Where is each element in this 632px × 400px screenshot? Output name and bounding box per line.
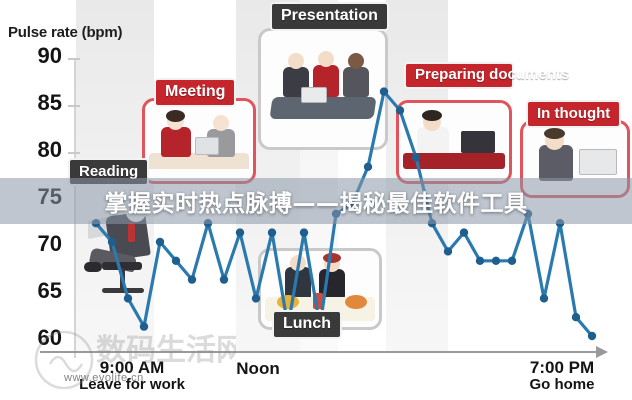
- pulse-data-point: [364, 163, 372, 171]
- pulse-data-point: [252, 294, 260, 302]
- pulse-data-point: [236, 228, 244, 236]
- pulse-data-point: [572, 313, 580, 321]
- overlay-title-text: 掌握实时热点脉搏——揭秘最佳软件工具: [105, 184, 528, 218]
- overlay-title-banner: 掌握实时热点脉搏——揭秘最佳软件工具: [0, 178, 632, 224]
- pulse-data-point: [172, 257, 180, 265]
- pulse-data-point: [540, 294, 548, 302]
- infographic-canvas: Pulse rate (bpm) 90 85 80 75 70 65 60 9:…: [0, 0, 632, 400]
- pulse-data-point: [444, 247, 452, 255]
- pulse-data-point: [460, 228, 468, 236]
- pulse-data-point: [220, 275, 228, 283]
- pulse-data-point: [492, 257, 500, 265]
- pulse-data-point: [476, 257, 484, 265]
- pulse-data-point: [588, 332, 596, 340]
- annotation-preparing-documents: Preparing documents: [404, 62, 514, 89]
- pulse-data-point: [268, 228, 276, 236]
- pulse-data-point: [124, 294, 132, 302]
- annotation-meeting: Meeting: [154, 78, 236, 107]
- annotation-presentation: Presentation: [270, 2, 389, 31]
- pulse-data-point: [300, 228, 308, 236]
- pulse-data-point: [140, 322, 148, 330]
- annotation-in-thought: In thought: [526, 100, 621, 128]
- pulse-data-point: [108, 238, 116, 246]
- pulse-data-point: [156, 238, 164, 246]
- pulse-data-point: [412, 153, 420, 161]
- watermark-url: www.evolife.cn: [64, 372, 144, 384]
- annotation-lunch: Lunch: [272, 310, 342, 339]
- pulse-data-point: [188, 275, 196, 283]
- pulse-data-point: [380, 87, 388, 95]
- pulse-data-point: [508, 257, 516, 265]
- pulse-data-point: [396, 106, 404, 114]
